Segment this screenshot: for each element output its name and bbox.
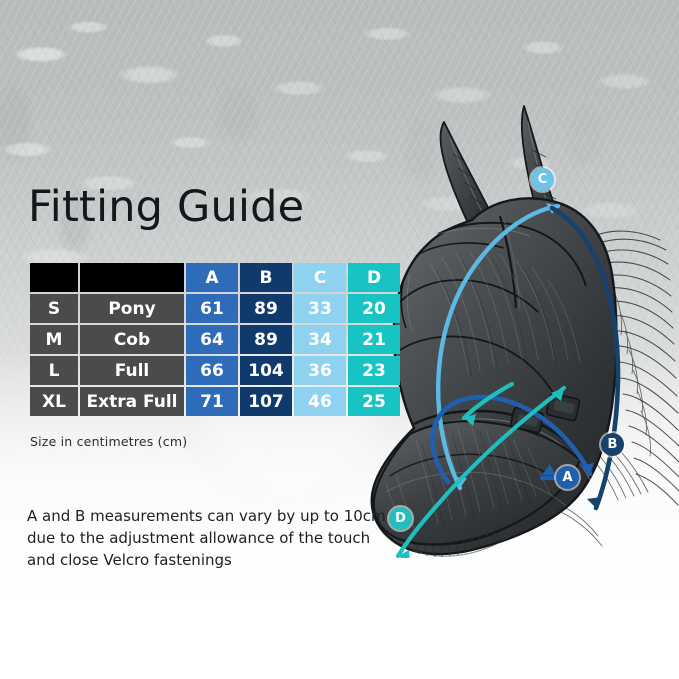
header-column-b: B	[240, 263, 292, 292]
header-column-d: D	[348, 263, 400, 292]
cell-b: 89	[240, 294, 292, 323]
cell-name: Cob	[80, 325, 184, 354]
page-title: Fitting Guide	[28, 186, 304, 229]
table-row: L Full 66 104 36 23	[30, 356, 400, 385]
header-column-c: C	[294, 263, 346, 292]
cell-d: 20	[348, 294, 400, 323]
cell-size: M	[30, 325, 78, 354]
units-note: Size in centimetres (cm)	[30, 434, 187, 449]
cell-a: 61	[186, 294, 238, 323]
cell-name: Full	[80, 356, 184, 385]
cell-b: 104	[240, 356, 292, 385]
size-chart-table: A B C D S Pony 61 89 33 20 M Cob	[28, 261, 402, 418]
cell-b: 89	[240, 325, 292, 354]
measurement-marker-b: B	[601, 433, 624, 456]
table-header-row: A B C D	[30, 263, 400, 292]
velcro-footnote: A and B measurements can vary by up to 1…	[27, 505, 397, 571]
cell-b: 107	[240, 387, 292, 416]
header-column-a: A	[186, 263, 238, 292]
table-row: XL Extra Full 71 107 46 25	[30, 387, 400, 416]
measurement-marker-a: A	[556, 466, 579, 489]
size-chart-table-wrapper: A B C D S Pony 61 89 33 20 M Cob	[28, 261, 402, 418]
table-row: S Pony 61 89 33 20	[30, 294, 400, 323]
cell-size: XL	[30, 387, 78, 416]
measurement-marker-c: C	[531, 168, 554, 191]
cell-name: Extra Full	[80, 387, 184, 416]
cell-a: 71	[186, 387, 238, 416]
cell-d: 23	[348, 356, 400, 385]
header-name-blank	[80, 263, 184, 292]
fitting-guide-page: A B C D Fitting Guide A B C D S Pony	[0, 0, 679, 679]
cell-c: 46	[294, 387, 346, 416]
table-row: M Cob 64 89 34 21	[30, 325, 400, 354]
cell-size: S	[30, 294, 78, 323]
cell-a: 66	[186, 356, 238, 385]
cell-c: 36	[294, 356, 346, 385]
cell-c: 33	[294, 294, 346, 323]
header-size-blank	[30, 263, 78, 292]
cell-a: 64	[186, 325, 238, 354]
cell-c: 34	[294, 325, 346, 354]
cell-size: L	[30, 356, 78, 385]
cell-d: 25	[348, 387, 400, 416]
cell-name: Pony	[80, 294, 184, 323]
cell-d: 21	[348, 325, 400, 354]
